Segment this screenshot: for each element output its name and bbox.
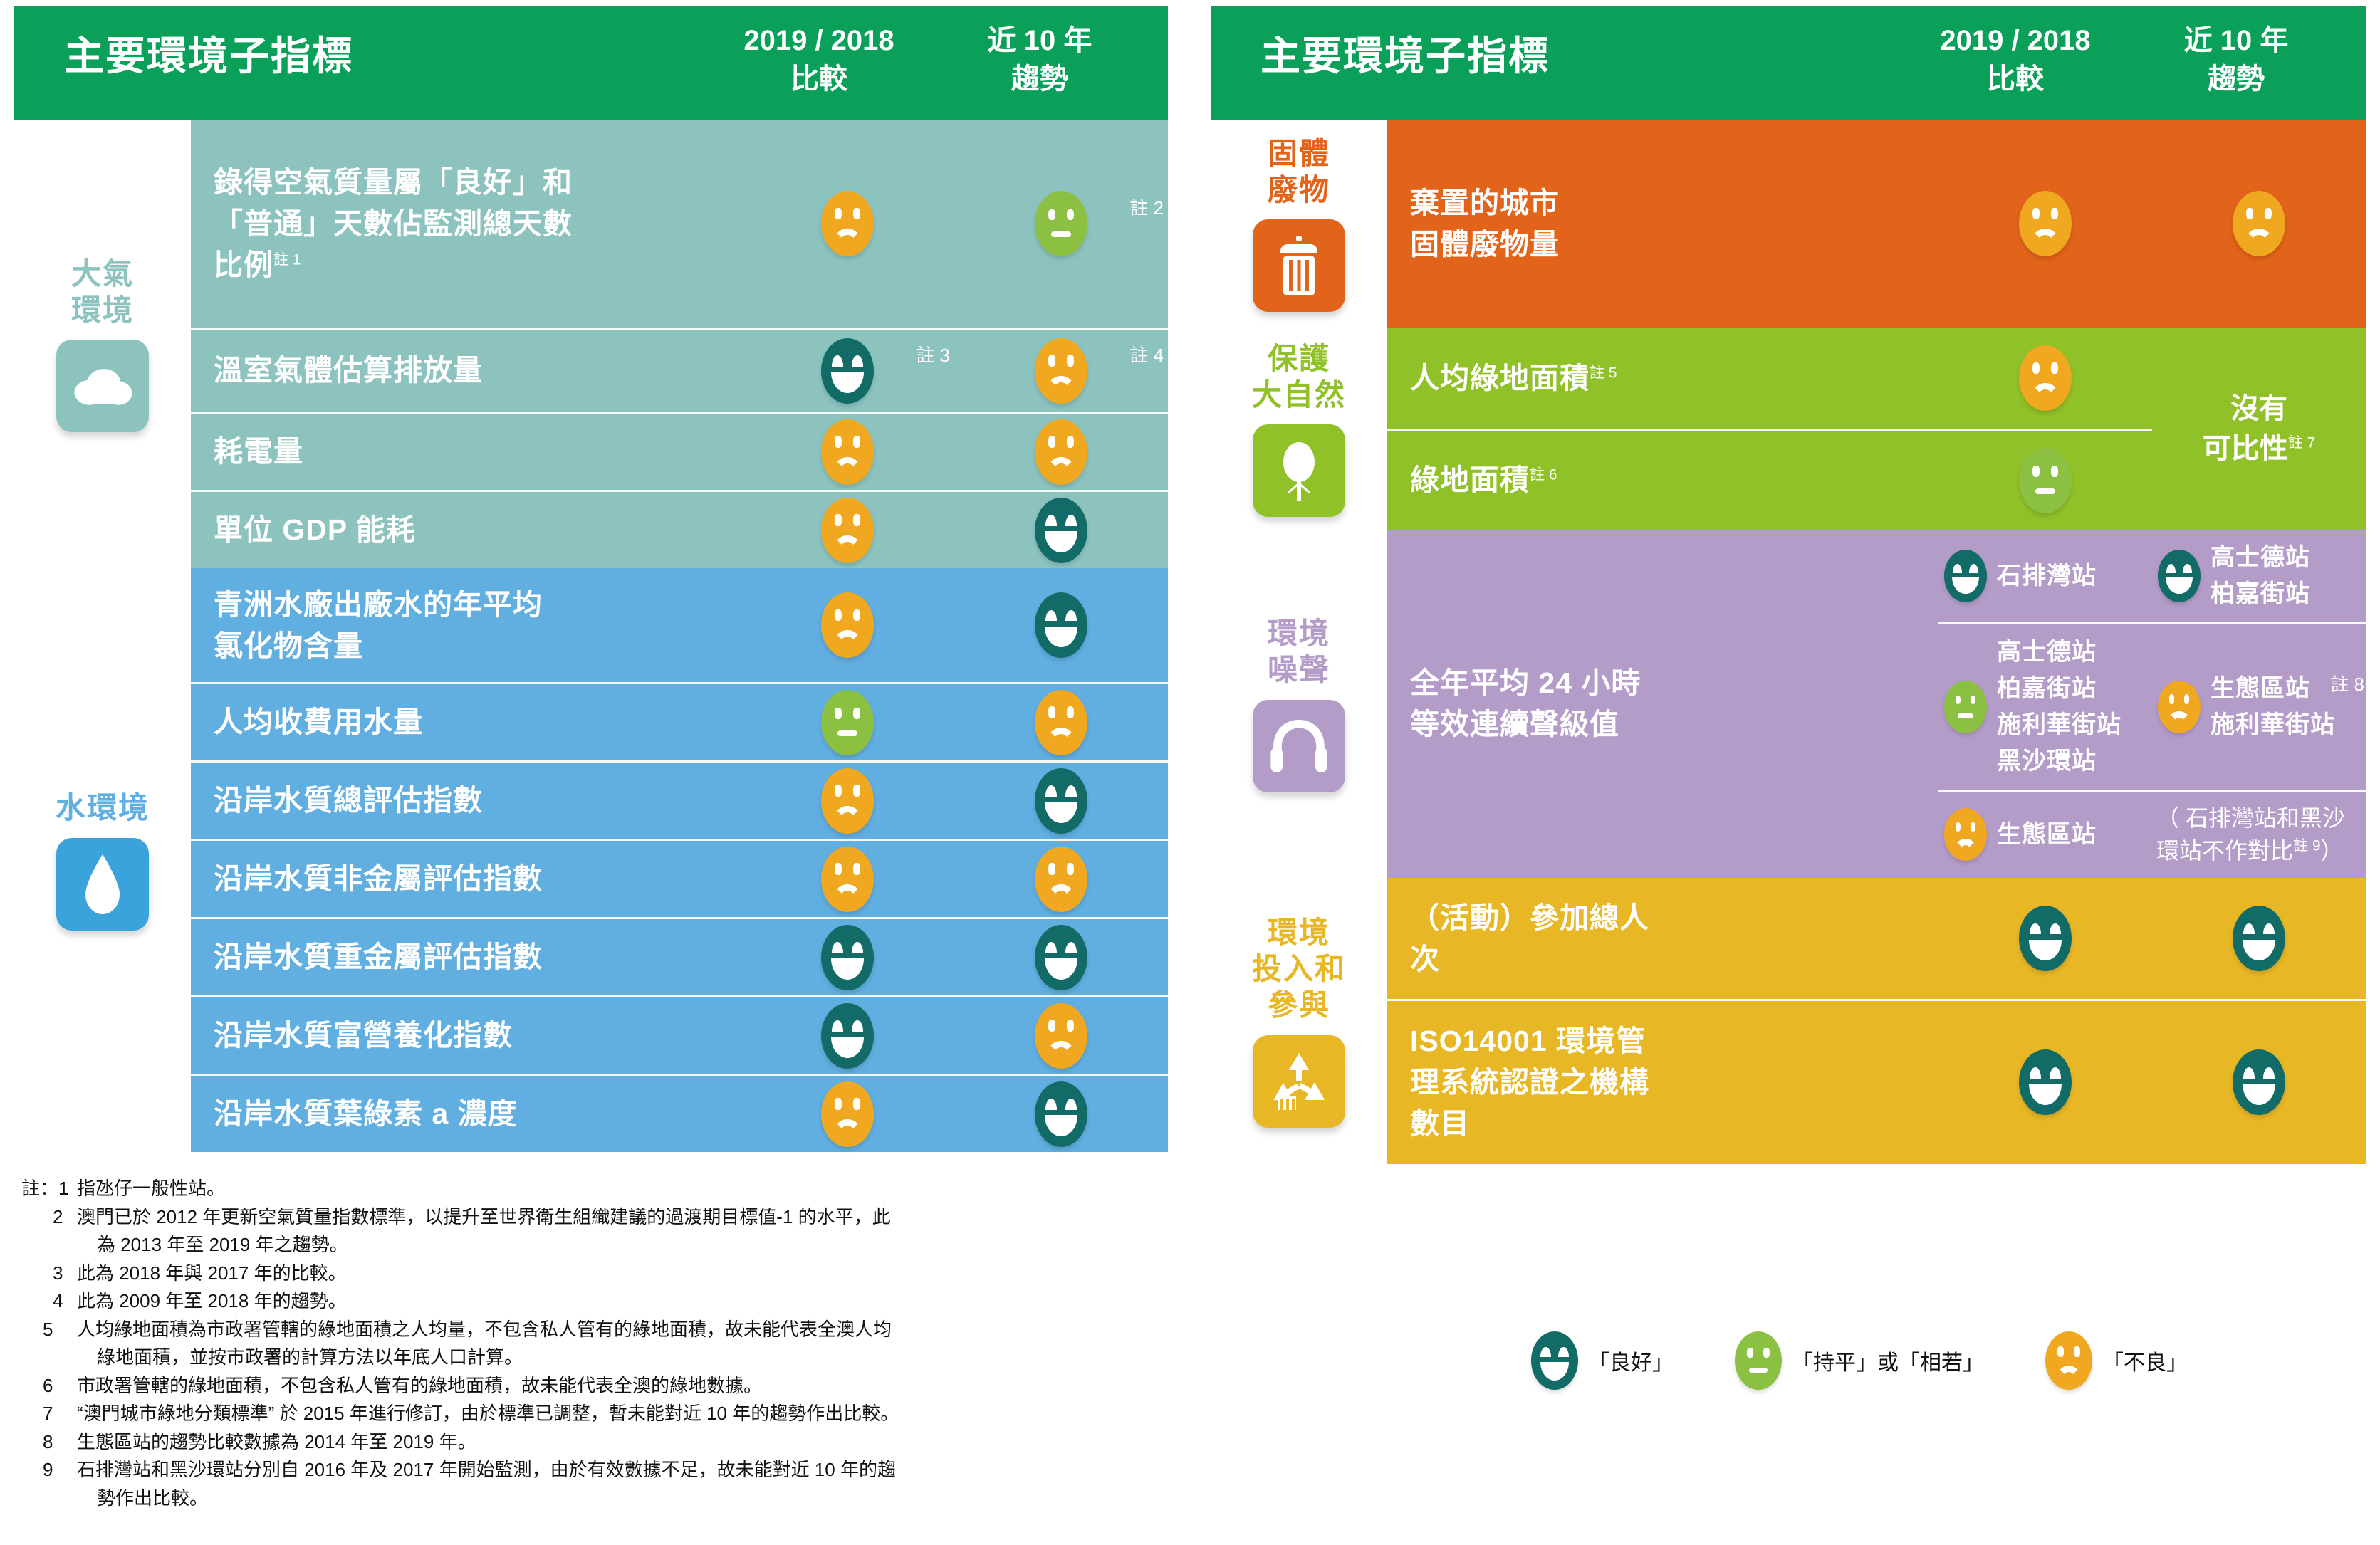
footnote-cont: 綠地面積，並按市政署的計算方法以年底人口計算。	[21, 1344, 1182, 1372]
section-label-water: 水環境	[14, 568, 191, 1152]
footnote-spacer	[21, 1484, 77, 1513]
section-label-water-text: 水環境	[56, 790, 150, 826]
cell-trend: 生態區站 施利華街站 註 8	[2152, 624, 2366, 790]
section-participation-rows: （活動）參加總人 次 ISO14001 環境管 理系統認證之機構 數目	[1387, 878, 2366, 1164]
status-face-bad	[821, 847, 874, 912]
section-label-waste-text: 固體 廢物	[1268, 135, 1330, 208]
column-header-compare: 2019 / 2018 比較	[712, 21, 926, 98]
footnote-number: 5	[43, 1319, 53, 1340]
table-row: 沿岸水質非金屬評估指數	[191, 839, 1168, 917]
footnotes: 註：1 指氹仔一般性站。 2 澳門已於 2012 年更新空氣質量指數標準，以提升…	[21, 1175, 1182, 1512]
footnote-item: 8 生態區站的趨勢比較數據為 2014 年至 2019 年。	[21, 1428, 1182, 1457]
row-label-text: 錄得空氣質量屬「良好」和 「普通」天數佔監測總天數 比例	[214, 166, 573, 281]
status-face-bad	[1035, 690, 1087, 755]
footnote-item: 6 市政署管轄的綠地面積，不包含私人管有的綠地面積，故未能代表全澳的綠地數據。	[21, 1372, 1182, 1400]
status-face-good	[1035, 592, 1087, 658]
table-row: 沿岸水質總評估指數	[191, 760, 1168, 839]
row-label: 青洲水廠出廠水的年平均 氯化物含量	[191, 572, 741, 678]
status-face-bad	[821, 592, 874, 658]
footnote-item: 2 澳門已於 2012 年更新空氣質量指數標準，以提升至世界衛生組織建議的過渡期…	[21, 1203, 1182, 1232]
status-face-good	[2019, 906, 2072, 971]
footnote-item: 5 人均綠地面積為市政署管轄的綠地面積之人均量，不包含私人管有的綠地面積，故未能…	[21, 1316, 1182, 1344]
table-row: 溫室氣體估算排放量 註 3 註 4	[191, 328, 1168, 412]
cell-trend	[954, 418, 1168, 486]
table-row: 沿岸水質葉綠素 a 濃度	[191, 1074, 1168, 1152]
cell-trend	[954, 591, 1168, 659]
cell-compare	[1938, 446, 2152, 515]
cell-compare: 高士德站 柏嘉街站 施利華街站 黑沙環站	[1938, 624, 2152, 790]
cell-trend	[2152, 904, 2366, 973]
row-label: 人均綠地面積註 5	[1387, 346, 1938, 410]
section-label-nature-text: 保護 大自然	[1252, 340, 1346, 413]
footnote-text: 指氹仔一般性站。	[77, 1175, 1182, 1203]
section-water-rows: 青洲水廠出廠水的年平均 氯化物含量 人均收費用水量 沿岸水質總評估指數 沿岸水質…	[191, 568, 1168, 1152]
row-label: 沿岸水質富營養化指數	[191, 1003, 741, 1067]
status-face-good	[1035, 768, 1087, 834]
status-face-good	[2019, 1049, 2072, 1115]
footnote-text: 澳門已於 2012 年更新空氣質量指數標準，以提升至世界衛生組織建議的過渡期目標…	[77, 1203, 1182, 1232]
footnote-number: 2	[53, 1206, 63, 1227]
legend-item-good: 「良好」	[1531, 1331, 1674, 1390]
cell-compare: 生態區站	[1938, 792, 2152, 878]
section-label-noise: 環境 噪聲	[1211, 530, 1387, 878]
status-face-good	[2233, 1049, 2285, 1115]
footnote-number: 7	[43, 1403, 53, 1424]
cell-trend: 註 2	[954, 189, 1168, 258]
nature-trend-text: 沒有 可比性	[2203, 393, 2288, 464]
cell-compare	[741, 1080, 954, 1148]
cell-note: 註 4	[1129, 341, 1164, 367]
table-row: （活動）參加總人 次	[1387, 878, 2366, 999]
section-nature: 保護 大自然 人均綠地面積註 5 綠地面積註 6 沒	[1211, 328, 2366, 530]
nature-trend-no-comparison: 沒有 可比性註 7	[2152, 328, 2366, 530]
status-face-good	[1035, 1081, 1087, 1147]
legend-label: 「不良」	[2102, 1345, 2188, 1376]
status-face-bad	[1944, 808, 1987, 861]
footnote-item: 4 此為 2009 年至 2018 年的趨勢。	[21, 1287, 1182, 1316]
left-panel: 主要環境子指標 2019 / 2018 比較 近 10 年 趨勢 大氣 環境 錄…	[14, 6, 1168, 1152]
row-label: 溫室氣體估算排放量	[191, 338, 741, 402]
status-face-bad	[2019, 345, 2072, 411]
row-label-sup: 註 1	[273, 251, 301, 268]
section-label-nature: 保護 大自然	[1211, 328, 1387, 530]
section-label-air: 大氣 環境	[14, 120, 191, 568]
footnote-text: 石排灣站和黑沙環站分別自 2016 年及 2017 年開始監測，由於有效數據不足…	[77, 1456, 1182, 1484]
table-row: 棄置的城市 固體廢物量	[1387, 120, 2366, 328]
status-face-good	[821, 925, 874, 990]
cell-compare	[1938, 344, 2152, 412]
cell-compare: 註 3	[741, 337, 954, 405]
cell-compare	[1938, 904, 2152, 973]
footnote-text-cont: 綠地面積，並按市政署的計算方法以年底人口計算。	[77, 1344, 1182, 1372]
noise-group: 生態區站 （ 石排灣站和黑沙 環站不作對比註 9）	[1938, 790, 2366, 878]
cell-trend: 註 4	[954, 337, 1168, 405]
headphones-icon	[1253, 700, 1345, 792]
footnotes-lead-text: 註：	[21, 1178, 58, 1199]
footnote-item: 註：1 指氹仔一般性站。	[21, 1175, 1182, 1203]
footnote-number-box: 5	[21, 1316, 77, 1344]
noise-station-names: 高士德站 柏嘉街站	[2211, 540, 2310, 612]
row-label-text: 人均綠地面積	[1410, 362, 1590, 394]
section-label-air-text: 大氣 環境	[71, 256, 134, 328]
footnote-number-box: 3	[21, 1259, 77, 1288]
footnote-item: 7 “澳門城市綠地分類標準” 於 2015 年進行修訂，由於標準已調整，暫未能對…	[21, 1400, 1182, 1428]
status-face-flat	[1035, 191, 1087, 256]
cell-compare	[741, 767, 954, 835]
cell-note: 註 8	[2330, 670, 2364, 696]
cell-compare	[741, 923, 954, 992]
section-air-rows: 錄得空氣質量屬「良好」和 「普通」天數佔監測總天數 比例註 1 註 2 溫室氣體…	[191, 120, 1168, 568]
noise-station-names: 石排灣站	[1997, 558, 2097, 595]
column-header-compare-right: 2019 / 2018 比較	[1909, 21, 2122, 98]
section-noise: 環境 噪聲 全年平均 24 小時 等效連續聲級值 石排灣站 高	[1211, 530, 2366, 878]
status-face-bad	[821, 768, 874, 834]
cell-note: 註 3	[916, 341, 950, 367]
row-label: 錄得空氣質量屬「良好」和 「普通」天數佔監測總天數 比例註 1	[191, 150, 741, 298]
section-waste-rows: 棄置的城市 固體廢物量	[1387, 120, 2366, 328]
row-label: 單位 GDP 能耗	[191, 498, 741, 562]
page-title-right: 主要環境子指標	[1261, 34, 1550, 78]
footnotes-lead: 註：1	[21, 1175, 77, 1203]
noise-station-names: 生態區站	[1997, 817, 2097, 853]
footnote-text: 人均綠地面積為市政署管轄的綠地面積之人均量，不包含私人管有的綠地面積，故未能代表…	[77, 1316, 1182, 1344]
footnote-item: 3 此為 2018 年與 2017 年的比較。	[21, 1259, 1182, 1288]
status-face-flat	[1944, 681, 1987, 733]
footnote-text: 生態區站的趨勢比較數據為 2014 年至 2019 年。	[77, 1428, 1182, 1457]
cell-compare	[741, 418, 954, 486]
legend: 「良好」 「持平」或「相若」 「不良」	[1531, 1331, 2188, 1390]
table-row: 耗電量	[191, 412, 1168, 490]
footnote-number-box: 9	[21, 1456, 77, 1484]
section-air: 大氣 環境 錄得空氣質量屬「良好」和 「普通」天數佔監測總天數 比例註 1 註 …	[14, 120, 1168, 568]
status-face-flat	[1735, 1331, 1782, 1390]
noise-trend-note-close: ）	[2321, 838, 2344, 864]
footnote-text: “澳門城市綠地分類標準” 於 2015 年進行修訂，由於標準已調整，暫未能對近 …	[77, 1400, 1182, 1428]
footnote-cont: 為 2013 年至 2019 年之趨勢。	[21, 1231, 1182, 1259]
table-row: 沿岸水質重金屬評估指數	[191, 917, 1168, 995]
footnote-number: 8	[43, 1431, 53, 1452]
table-row: 人均收費用水量	[191, 682, 1168, 760]
table-row: 人均綠地面積註 5	[1387, 328, 2152, 429]
row-label: 沿岸水質非金屬評估指數	[191, 847, 741, 911]
footnote-item: 9 石排灣站和黑沙環站分別自 2016 年及 2017 年開始監測，由於有效數據…	[21, 1456, 1182, 1484]
status-face-bad	[1035, 419, 1087, 485]
noise-group: 石排灣站 高士德站 柏嘉街站	[1938, 530, 2366, 622]
footnote-number: 1	[58, 1178, 68, 1199]
status-face-good	[2233, 906, 2285, 971]
status-face-good	[821, 338, 874, 404]
status-face-bad	[1035, 338, 1087, 404]
cell-trend	[954, 1002, 1168, 1070]
noise-station-names: 生態區站 施利華街站	[2211, 671, 2335, 743]
noise-station-grid: 石排灣站 高士德站 柏嘉街站 高士德站 柏嘉街站 施利華街站 黑沙環站	[1938, 530, 2366, 878]
status-face-bad	[821, 1081, 874, 1147]
cell-compare	[741, 591, 954, 659]
row-label: 沿岸水質總評估指數	[191, 768, 741, 832]
row-label: 沿岸水質葉綠素 a 濃度	[191, 1081, 741, 1146]
right-panel: 主要環境子指標 2019 / 2018 比較 近 10 年 趨勢 固體 廢物 棄…	[1211, 6, 2366, 1164]
cell-compare	[741, 1002, 954, 1070]
footnote-text: 此為 2018 年與 2017 年的比較。	[77, 1259, 1182, 1288]
row-label: 綠地面積註 6	[1387, 448, 1938, 512]
cloud-icon	[56, 340, 149, 432]
row-label: 人均收費用水量	[191, 690, 741, 754]
cell-compare: 石排灣站	[1938, 530, 2152, 622]
noise-trend-note-sup: 註 9	[2293, 838, 2321, 854]
section-label-noise-text: 環境 噪聲	[1268, 615, 1330, 688]
section-nature-rows: 人均綠地面積註 5 綠地面積註 6 沒有 可比性註 7	[1387, 328, 2366, 530]
table-row: 錄得空氣質量屬「良好」和 「普通」天數佔監測總天數 比例註 1 註 2	[191, 120, 1168, 328]
footnote-text-cont: 勢作出比較。	[77, 1484, 1182, 1513]
row-label: 耗電量	[191, 419, 741, 483]
section-label-waste: 固體 廢物	[1211, 120, 1387, 328]
status-face-good	[2158, 550, 2201, 602]
legend-label: 「良好」	[1588, 1345, 1674, 1376]
footnote-number: 6	[43, 1375, 53, 1396]
table-row: 綠地面積註 6	[1387, 429, 2152, 530]
footnote-number-box: 7	[21, 1400, 77, 1428]
status-face-good	[1531, 1331, 1578, 1390]
status-face-good	[1035, 925, 1087, 990]
noise-station-names: 高士德站 柏嘉街站 施利華街站 黑沙環站	[1997, 634, 2121, 780]
status-face-flat	[821, 690, 874, 755]
cell-compare	[741, 496, 954, 565]
infographic-page: 主要環境子指標 2019 / 2018 比較 近 10 年 趨勢 大氣 環境 錄…	[0, 0, 2380, 1545]
cell-compare	[741, 845, 954, 913]
cell-trend	[954, 845, 1168, 913]
footnote-spacer	[21, 1344, 77, 1372]
cell-note: 註 2	[1129, 194, 1164, 220]
section-participation: 環境 投入和 參與 （活動）參加總人 次 ISO14001 環境管 理系統認證之…	[1211, 878, 2366, 1164]
legend-item-flat: 「持平」或「相若」	[1735, 1331, 1984, 1390]
legend-label: 「持平」或「相若」	[1792, 1345, 1984, 1376]
footnote-number-box: 4	[21, 1287, 77, 1316]
cell-trend	[954, 688, 1168, 757]
row-label: 沿岸水質重金屬評估指數	[191, 925, 741, 989]
section-label-participation: 環境 投入和 參與	[1211, 878, 1387, 1164]
table-row: 單位 GDP 能耗	[191, 490, 1168, 568]
noise-station-names-text: 生態區站 施利華街站	[2211, 675, 2335, 738]
column-header-trend-right: 近 10 年 趨勢	[2129, 21, 2343, 98]
cell-trend	[2152, 189, 2366, 258]
footnote-text: 此為 2009 年至 2018 年的趨勢。	[77, 1287, 1182, 1316]
footnote-text-cont: 為 2013 年至 2019 年之趨勢。	[77, 1231, 1182, 1259]
cell-trend	[954, 767, 1168, 835]
cell-compare	[741, 688, 954, 757]
row-label: ISO14001 環境管 理系統認證之機構 數目	[1387, 1009, 1938, 1156]
cell-trend	[954, 923, 1168, 992]
cell-compare	[1938, 189, 2152, 258]
section-water: 水環境 青洲水廠出廠水的年平均 氯化物含量 人均收費用水量 沿岸水質總	[14, 568, 1168, 1152]
status-face-good	[821, 1003, 874, 1069]
footnote-number: 3	[53, 1262, 63, 1284]
noise-group: 高士德站 柏嘉街站 施利華街站 黑沙環站 生態區站 施利華街站 註 8	[1938, 622, 2366, 790]
footnote-number-box: 6	[21, 1372, 77, 1400]
status-face-bad	[821, 498, 874, 563]
row-label-text: 綠地面積	[1410, 463, 1530, 496]
footnote-number: 4	[53, 1290, 63, 1311]
status-face-bad	[2158, 681, 2201, 733]
status-face-bad	[1035, 847, 1087, 912]
status-face-bad	[821, 419, 874, 485]
section-label-participation-text: 環境 投入和 參與	[1252, 914, 1346, 1024]
table-row: 沿岸水質富營養化指數	[191, 995, 1168, 1074]
section-noise-rows: 全年平均 24 小時 等效連續聲級值 石排灣站 高士德站 柏嘉街站	[1387, 530, 2366, 878]
status-face-bad	[2233, 191, 2285, 256]
noise-trend-note: （ 石排灣站和黑沙 環站不作對比註 9）	[2152, 792, 2366, 878]
right-panel-header: 主要環境子指標 2019 / 2018 比較 近 10 年 趨勢	[1211, 6, 2366, 120]
cell-trend	[954, 496, 1168, 565]
status-face-bad	[1035, 1003, 1087, 1069]
footnote-text: 市政署管轄的綠地面積，不包含私人管有的綠地面積，故未能代表全澳的綠地數據。	[77, 1372, 1182, 1400]
status-face-flat	[2019, 448, 2072, 513]
status-face-bad	[821, 191, 874, 256]
footnote-number-box: 8	[21, 1428, 77, 1457]
legend-item-bad: 「不良」	[2045, 1331, 2188, 1390]
row-label-sup: 註 5	[1590, 365, 1617, 381]
cell-compare	[1938, 1048, 2152, 1116]
status-face-good	[1944, 550, 1987, 602]
cell-trend	[2152, 1048, 2366, 1116]
trash-bin-icon	[1253, 219, 1345, 312]
section-solid-waste: 固體 廢物 棄置的城市 固體廢物量	[1211, 120, 2366, 328]
cell-compare	[741, 189, 954, 258]
row-label: （活動）參加總人 次	[1387, 886, 1938, 991]
row-label: 棄置的城市 固體廢物量	[1387, 171, 1938, 276]
cell-trend	[954, 1080, 1168, 1148]
row-label-sup: 註 6	[1530, 467, 1557, 483]
nature-trend-sup: 註 7	[2288, 435, 2316, 451]
status-face-good	[1035, 498, 1087, 563]
page-title: 主要環境子指標	[64, 34, 353, 78]
water-drop-icon	[56, 838, 149, 931]
table-row: 青洲水廠出廠水的年平均 氯化物含量	[191, 568, 1168, 682]
status-face-bad	[2045, 1331, 2092, 1390]
footnote-number-box: 2	[21, 1203, 77, 1232]
left-panel-header: 主要環境子指標 2019 / 2018 比較 近 10 年 趨勢	[14, 6, 1168, 120]
footnote-cont: 勢作出比較。	[21, 1484, 1182, 1513]
tree-icon	[1253, 424, 1345, 517]
column-header-trend: 近 10 年 趨勢	[933, 21, 1147, 98]
footnote-spacer	[21, 1231, 77, 1259]
cell-trend: 高士德站 柏嘉街站	[2152, 530, 2366, 622]
status-face-bad	[2019, 191, 2072, 256]
recycle-icon	[1253, 1035, 1345, 1128]
noise-trend-note-text: （ 石排灣站和黑沙 環站不作對比	[2156, 805, 2345, 864]
row-label: 全年平均 24 小時 等效連續聲級值	[1387, 530, 1938, 878]
footnote-number: 9	[43, 1459, 53, 1480]
table-row: ISO14001 環境管 理系統認證之機構 數目	[1387, 999, 2366, 1164]
